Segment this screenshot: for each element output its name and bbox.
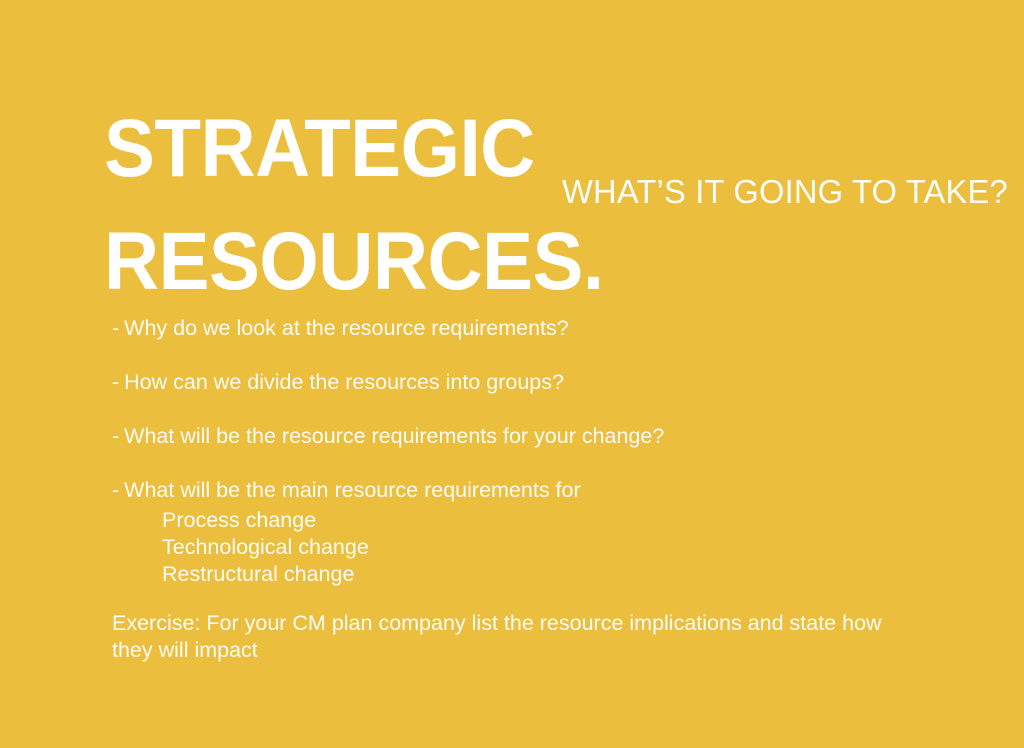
slide-canvas: STRATEGIC RESOURCES. WHAT’S IT GOING TO … — [0, 0, 1024, 748]
bullet-dash: - — [112, 424, 119, 448]
list-item: -How can we divide the resources into gr… — [112, 366, 972, 398]
bullet-dash: - — [112, 478, 119, 502]
bullet-text: How can we divide the resources into gro… — [124, 370, 564, 394]
sub-list-item: Restructural change — [162, 561, 972, 588]
title-line-2: RESOURCES. — [104, 205, 699, 318]
exercise-text: Exercise: For your CM plan company list … — [112, 610, 902, 664]
bullet-dash: - — [112, 370, 119, 394]
sub-list-item: Process change — [162, 507, 972, 534]
list-item: -What will be the main resource requirem… — [112, 474, 972, 506]
slide-subtitle: WHAT’S IT GOING TO TAKE? — [562, 172, 1008, 212]
list-item: -Why do we look at the resource requirem… — [112, 312, 972, 344]
sub-bullet-list: Process change Technological change Rest… — [112, 507, 972, 588]
sub-list-item: Technological change — [162, 534, 972, 561]
bullet-text: Why do we look at the resource requireme… — [124, 316, 569, 340]
bullet-list: -Why do we look at the resource requirem… — [112, 312, 972, 588]
bullet-dash: - — [112, 316, 119, 340]
bullet-text: What will be the resource requirements f… — [124, 424, 664, 448]
list-item: -What will be the resource requirements … — [112, 420, 972, 452]
bullet-text: What will be the main resource requireme… — [124, 478, 580, 502]
